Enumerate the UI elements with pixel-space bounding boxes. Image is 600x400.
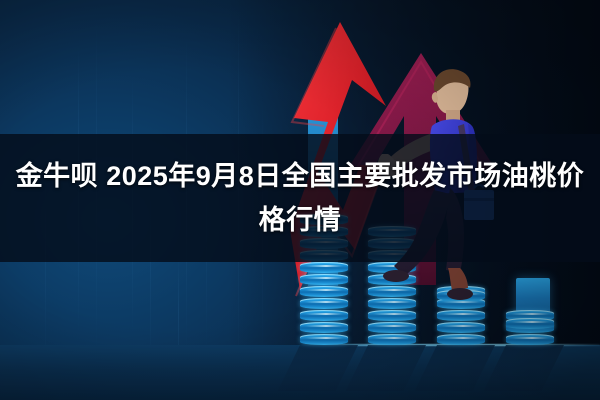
title-line-1: 金牛呗 2025年9月8日全国主要批发市场油桃价 xyxy=(16,154,585,198)
thumbnail-image: 金牛呗 2025年9月8日全国主要批发市场油桃价 格行情 xyxy=(0,0,600,400)
title-block: 金牛呗 2025年9月8日全国主要批发市场油桃价 格行情 xyxy=(0,134,600,262)
title-line-2: 格行情 xyxy=(259,198,342,242)
